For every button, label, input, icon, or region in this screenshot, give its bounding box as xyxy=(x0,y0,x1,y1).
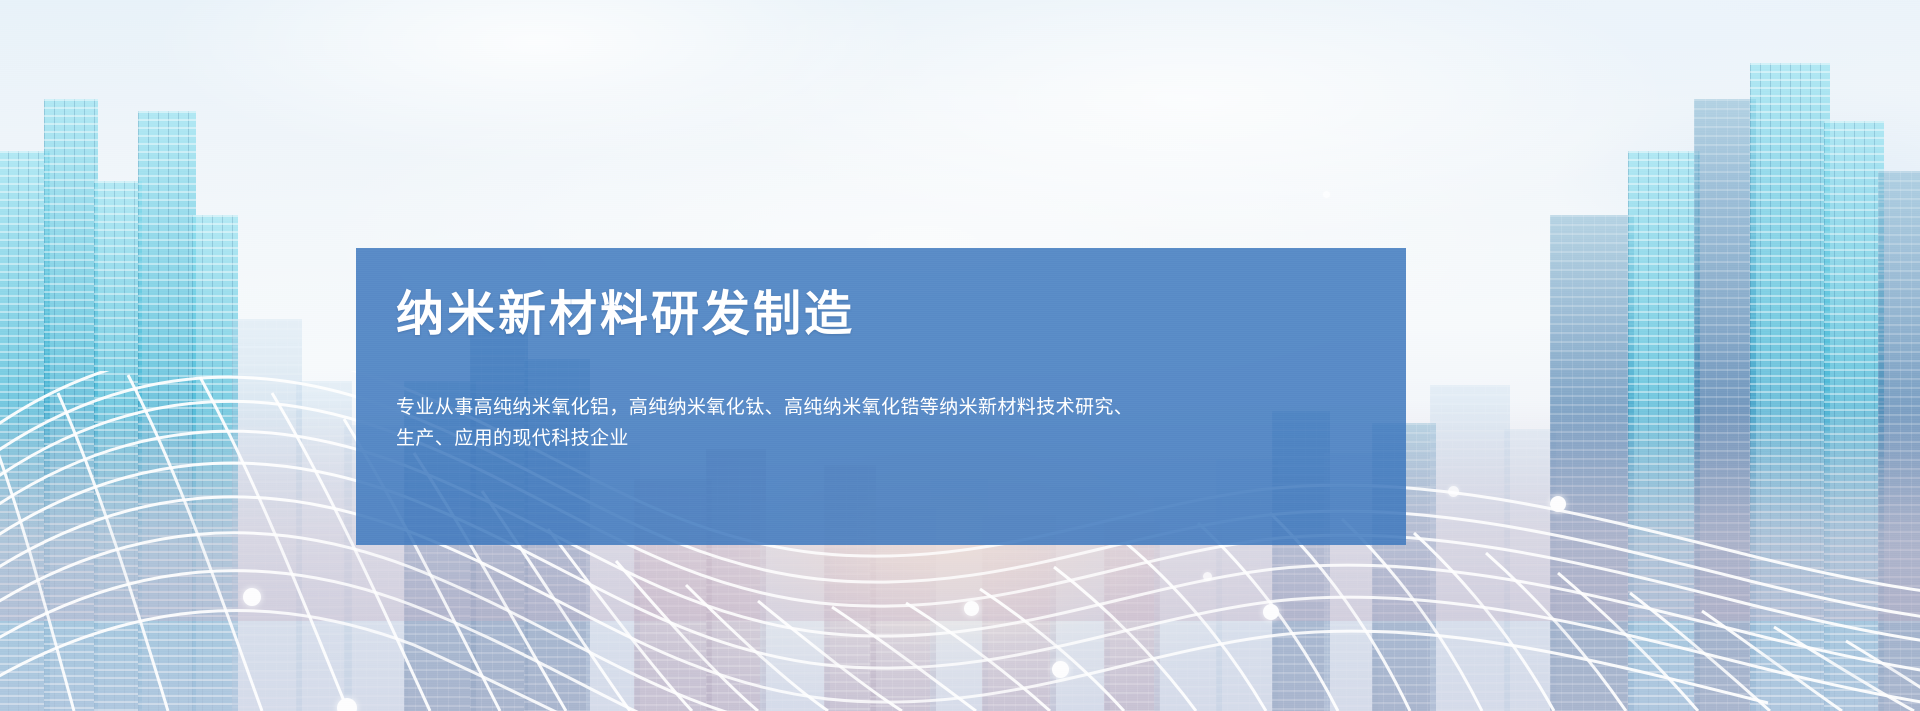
hero-banner: 纳米新材料研发制造 专业从事高纯纳米氧化铝，高纯纳米氧化钛、高纯纳米氧化锆等纳米… xyxy=(0,0,1920,711)
subtitle-line-2: 生产、应用的现代科技企业 xyxy=(396,423,1186,454)
page-title: 纳米新材料研发制造 xyxy=(396,284,855,346)
hero-subtitle: 专业从事高纯纳米氧化铝，高纯纳米氧化钛、高纯纳米氧化锆等纳米新材料技术研究、 生… xyxy=(396,392,1186,454)
subtitle-line-1: 专业从事高纯纳米氧化铝，高纯纳米氧化钛、高纯纳米氧化锆等纳米新材料技术研究、 xyxy=(396,392,1186,423)
